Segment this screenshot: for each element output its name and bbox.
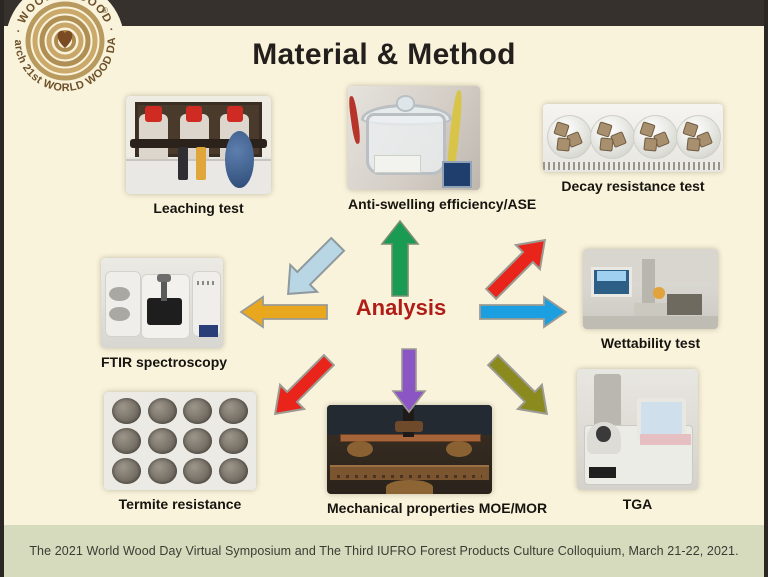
ftir-spectroscopy-caption: FTIR spectroscopy [101, 354, 223, 370]
arrow-to-ftir [239, 295, 329, 329]
node-ftir[interactable]: FTIR spectroscopy [101, 258, 223, 370]
tga-caption: TGA [577, 496, 698, 512]
tga-image [577, 369, 698, 490]
node-decay[interactable]: Decay resistance test [543, 104, 723, 194]
mechanical-properties-caption: Mechanical properties MOE/MOR [327, 500, 492, 516]
logo-registered-mark: ® [102, 6, 108, 15]
footer-text: The 2021 World Wood Day Virtual Symposiu… [29, 544, 738, 558]
ase-image [348, 86, 480, 190]
arrow-to-wettability [478, 295, 568, 329]
node-ase[interactable]: Anti-swelling efficiency/ASE [348, 86, 480, 212]
decay-resistance-caption: Decay resistance test [543, 178, 723, 194]
arrow-to-tga [470, 342, 570, 432]
wettability-test-caption: Wettability test [583, 335, 718, 351]
termite-resistance-image [104, 392, 256, 490]
ftir-spectroscopy-image [101, 258, 223, 348]
right-edge-strip [764, 0, 768, 577]
termite-resistance-caption: Termite resistance [104, 496, 256, 512]
leaching-test-image [126, 96, 271, 194]
footer-band: The 2021 World Wood Day Virtual Symposiu… [4, 525, 764, 577]
page-title: Material & Method [0, 38, 768, 72]
left-edge-strip [0, 0, 4, 577]
arrow-to-termite [252, 342, 352, 432]
node-wettability[interactable]: Wettability test [583, 249, 718, 351]
slide-canvas: · WOOD IS GOOD · March 21st WORLD WOOD D… [0, 0, 768, 577]
leaching-test-caption: Leaching test [126, 200, 271, 216]
ase-caption: Anti-swelling efficiency/ASE [348, 196, 480, 212]
node-tga[interactable]: TGA [577, 369, 698, 512]
node-termite[interactable]: Termite resistance [104, 392, 256, 512]
node-leaching[interactable]: Leaching test [126, 96, 271, 216]
arrow-to-mechanical [390, 347, 428, 415]
arrow-to-ase [378, 218, 422, 298]
decay-resistance-image [543, 104, 723, 172]
wettability-test-image [583, 249, 718, 329]
